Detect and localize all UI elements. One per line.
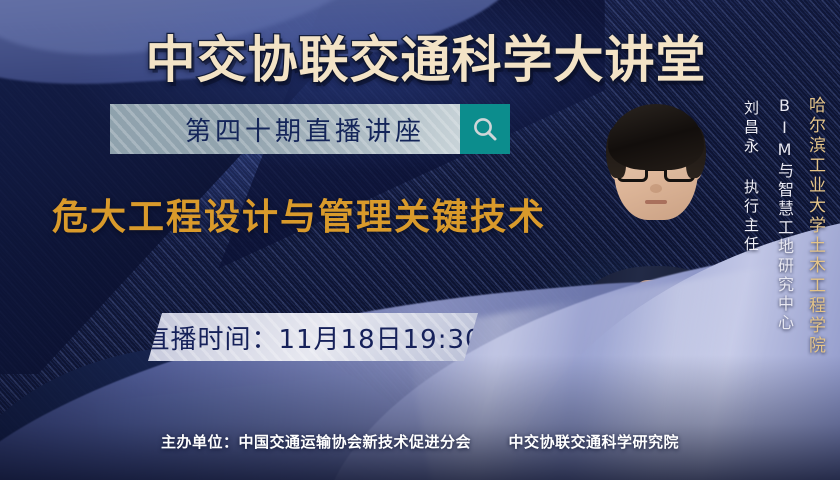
broadcast-time-badge: 直播时间：11月18日19:30 xyxy=(148,313,478,361)
portrait-mouth xyxy=(645,200,667,204)
episode-banner: 第四十期直播讲座 xyxy=(110,104,460,154)
footer-organizers: 主办单位：中国交通运输协会新技术促进分会 中交协联交通科学研究院 xyxy=(0,431,840,452)
footer-organizer-primary: 主办单位：中国交通运输协会新技术促进分会 xyxy=(161,433,471,451)
webinar-poster: 中交协联交通科学大讲堂 第四十期直播讲座 危大工程设计与管理关键技术 直播时间：… xyxy=(0,0,840,480)
bottom-fade-overlay xyxy=(0,355,840,480)
speaker-research-center: BIM与智慧工地研究中心 xyxy=(772,96,796,333)
broadcast-time-label: 直播时间：11月18日19:30 xyxy=(143,319,482,356)
search-icon-box[interactable] xyxy=(460,104,510,154)
speaker-school: 哈尔滨工业大学土木工程学院 xyxy=(803,96,828,356)
episode-label: 第四十期直播讲座 xyxy=(145,111,425,148)
portrait-hair xyxy=(608,104,704,170)
portrait-nose xyxy=(650,184,662,193)
page-title: 中交协联交通科学大讲堂 xyxy=(0,20,840,92)
lecture-subject-title: 危大工程设计与管理关键技术 xyxy=(52,188,546,240)
footer-organizer-secondary: 中交协联交通科学研究院 xyxy=(508,433,679,451)
speaker-name-title: 刘昌永 执行主任 xyxy=(741,100,762,255)
search-icon xyxy=(471,115,499,143)
